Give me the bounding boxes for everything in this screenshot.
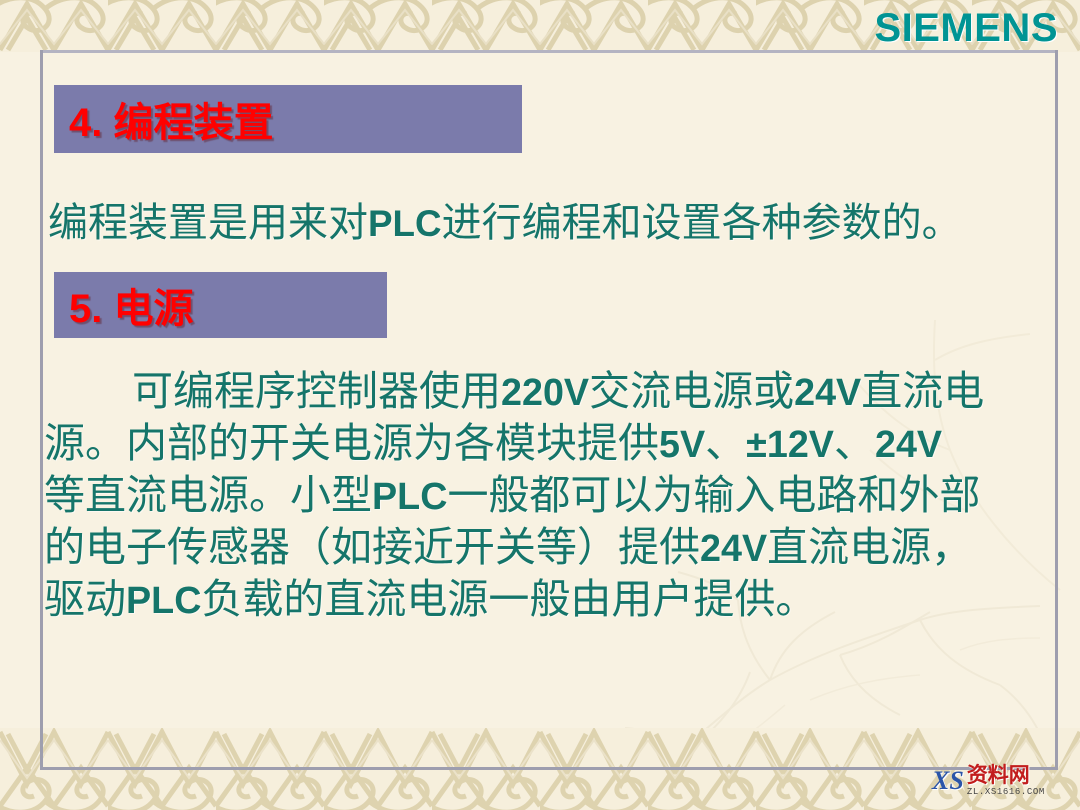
section-heading-label-4: 4. 编程装置	[54, 90, 273, 148]
watermark-text-group: 资料网 ZL.XS1616.COM	[967, 765, 1045, 797]
frame-bottom-line	[40, 767, 1058, 770]
xs-logo-icon: XS	[932, 768, 964, 794]
section-paragraph-5: 可编程序控制器使用220V交流电源或24V直流电 源。内部的开关电源为各模块提供…	[44, 366, 1039, 626]
section-heading-label-5: 5. 电源	[54, 276, 193, 334]
paragraph-text-4: 编程装置是用来对PLC进行编程和设置各种参数的。	[48, 200, 962, 245]
paragraph-line: 驱动PLC负载的直流电源一般由用户提供。	[44, 574, 1039, 626]
section-paragraph-4: 编程装置是用来对PLC进行编程和设置各种参数的。	[48, 190, 962, 248]
section-heading-banner-5: 5. 电源	[54, 272, 387, 338]
paragraph-line: 可编程序控制器使用220V交流电源或24V直流电	[44, 366, 1039, 418]
paragraph-line: 源。内部的开关电源为各模块提供5V、±12V、24V	[44, 418, 1039, 470]
paragraph-line: 等直流电源。小型PLC一般都可以为输入电路和外部	[44, 470, 1039, 522]
paragraph-line: 的电子传感器（如接近开关等）提供24V直流电源，	[44, 522, 1039, 574]
watermark-url: ZL.XS1616.COM	[967, 788, 1045, 797]
bottom-decorative-band	[0, 728, 1080, 810]
frame-right-line	[1055, 50, 1058, 770]
site-watermark: XS 资料网 ZL.XS1616.COM	[932, 758, 1072, 804]
section-heading-banner-4: 4. 编程装置	[54, 85, 522, 153]
frame-left-line	[40, 50, 43, 770]
siemens-logo: SIEMENS	[874, 6, 1058, 51]
watermark-site-name: 资料网	[967, 765, 1045, 786]
slide-canvas: SIEMENS 4. 编程装置 编程装置是用来对PLC进行编程和设置各种参数的。…	[0, 0, 1080, 810]
